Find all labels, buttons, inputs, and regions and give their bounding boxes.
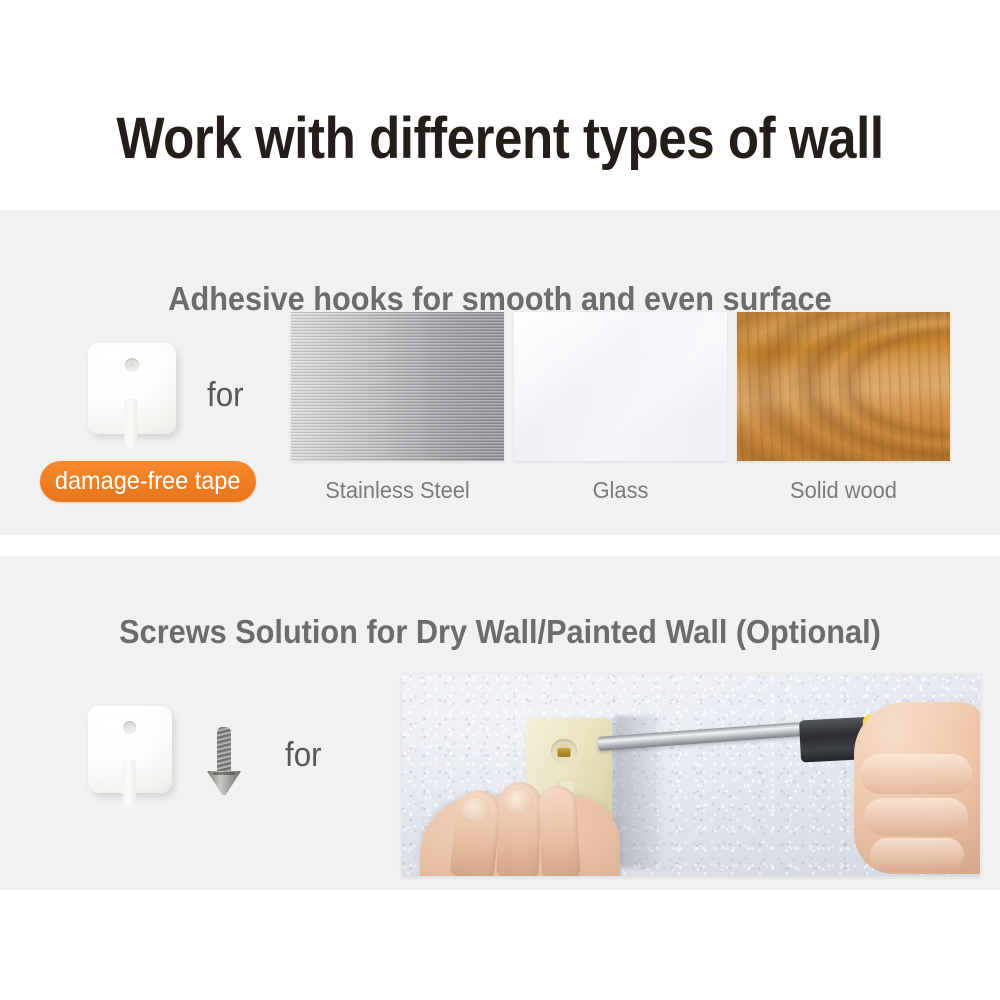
surface-label-stainless-steel: Stainless Steel [296, 477, 498, 504]
section-screws-title: Screws Solution for Dry Wall/Painted Wal… [35, 613, 965, 651]
connector-label-screws: for [285, 736, 322, 775]
screw-shaft [217, 727, 231, 773]
screw-hook-icon [88, 706, 172, 810]
hook-stem [125, 399, 138, 448]
infographic-page: Work with different types of wall Adhesi… [0, 0, 1000, 1000]
hook-screw-hole-icon [123, 721, 136, 735]
glass-swatch [514, 312, 727, 461]
hook-screw-hole-icon [125, 358, 139, 372]
stainless-steel-swatch [291, 312, 504, 461]
knuckle [860, 754, 972, 794]
screw-icon [203, 727, 245, 795]
finger [538, 785, 581, 876]
surface-label-solid-wood: Solid wood [742, 477, 944, 504]
adhesive-hook-icon [88, 343, 176, 451]
knuckle [864, 798, 968, 836]
solid-wood-swatch [737, 312, 950, 461]
hook-stem [123, 760, 136, 807]
mounted-brass-screw-icon [557, 748, 570, 757]
wall-installation-photo [402, 674, 980, 876]
knuckle [870, 838, 964, 872]
hand-holding-screwdriver [854, 702, 980, 874]
status-badge-label: damage-free tape [55, 467, 241, 496]
fingernail [505, 790, 533, 812]
page-title: Work with different types of wall [60, 105, 940, 172]
surface-label-glass: Glass [519, 477, 721, 504]
status-badge-damage-free-tape: damage-free tape [40, 461, 256, 502]
screw-slot [213, 772, 235, 775]
connector-label-adhesive: for [207, 376, 244, 415]
fingernail [462, 798, 490, 820]
